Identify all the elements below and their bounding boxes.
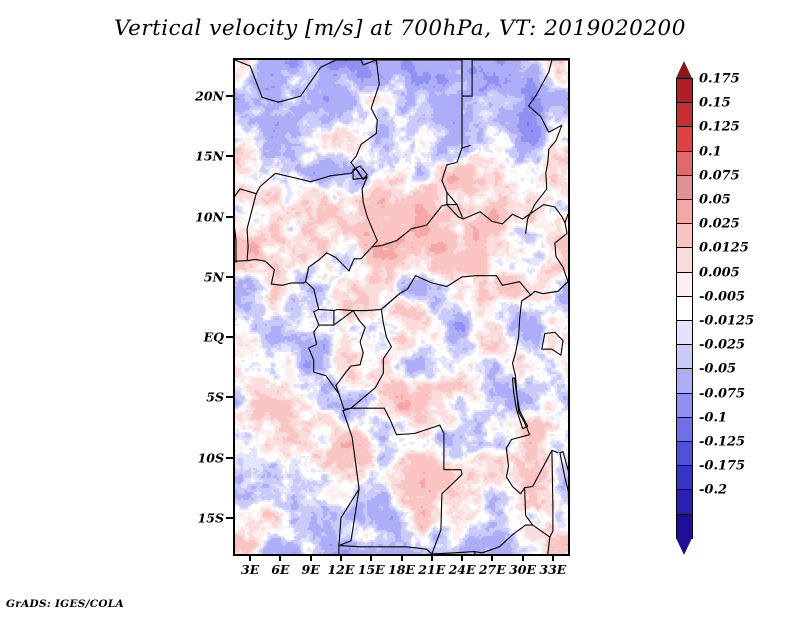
latitude-tick-label: EQ <box>204 330 224 345</box>
colorbar-tick-label: 0.05 <box>699 193 731 208</box>
colorbar-tick-label: -0.05 <box>699 362 736 377</box>
latitude-tick-label: 5N <box>204 269 224 284</box>
colorbar-tick-label: -0.125 <box>699 435 745 450</box>
colorbar-segment <box>676 514 693 539</box>
longitude-tick-label: 6E <box>271 562 289 577</box>
page-title: Vertical velocity [m/s] at 700hPa, VT: 2… <box>0 16 800 41</box>
map-plot-area[interactable] <box>233 58 570 556</box>
colorbar-segment <box>676 296 693 321</box>
credit-label: GrADS: IGES/COLA <box>6 598 124 610</box>
colorbar-min-arrow <box>676 538 692 555</box>
colorbar-segment <box>676 441 693 466</box>
colorbar-segment <box>676 368 693 393</box>
colorbar-tick-label: 0.175 <box>699 72 740 87</box>
colorbar-segment <box>676 126 693 151</box>
colorbar-tick-label: 0.125 <box>699 120 740 135</box>
longitude-tick-label: 15E <box>358 562 385 577</box>
colorbar-segment <box>676 102 693 127</box>
colorbar-max-arrow <box>676 61 692 78</box>
colorbar-tick-label: 0.005 <box>699 265 740 280</box>
colorbar-segment <box>676 247 693 272</box>
longitude-tick-label: 9E <box>302 562 320 577</box>
latitude-tick-label: 20N <box>195 89 224 104</box>
colorbar-segment <box>676 175 693 200</box>
latitude-tick-label: 10S <box>198 450 224 465</box>
colorbar-segment <box>676 151 693 176</box>
colorbar-segment <box>676 393 693 418</box>
latitude-tick-label: 5S <box>206 390 224 405</box>
latitude-tick-label: 15N <box>195 149 224 164</box>
colorbar-segment <box>676 78 693 103</box>
longitude-tick-label: 30E <box>509 562 536 577</box>
colorbar-tick-label: -0.175 <box>699 459 745 474</box>
longitude-tick-label: 12E <box>327 562 354 577</box>
longitude-tick-label: 3E <box>241 562 259 577</box>
colorbar-segment <box>676 223 693 248</box>
colorbar-tick-label: 0.15 <box>699 96 731 111</box>
longitude-tick-label: 24E <box>449 562 476 577</box>
colorbar-tick-label: -0.075 <box>699 386 745 401</box>
colorbar-tick-label: -0.0125 <box>699 314 754 329</box>
longitude-tick-label: 21E <box>418 562 445 577</box>
colorbar-tick-label: 0.025 <box>699 217 740 232</box>
colorbar-tick-label: 0.1 <box>699 144 722 159</box>
longitude-tick-label: 18E <box>388 562 415 577</box>
colorbar-segment <box>676 344 693 369</box>
colorbar-segment <box>676 465 693 490</box>
colorbar-tick-label: 0.0125 <box>699 241 749 256</box>
colorbar-tick-label: 0.075 <box>699 168 740 183</box>
colorbar[interactable]: 0.1750.150.1250.10.0750.050.0250.01250.0… <box>676 60 796 560</box>
latitude-tick-label: 10N <box>195 209 224 224</box>
colorbar-segment <box>676 489 693 514</box>
longitude-tick-label: 27E <box>479 562 506 577</box>
latitude-tick-label: 15S <box>198 510 224 525</box>
colorbar-tick-label: -0.2 <box>699 483 727 498</box>
colorbar-tick-label: -0.1 <box>699 410 727 425</box>
colorbar-tick-label: -0.005 <box>699 289 745 304</box>
colorbar-segment <box>676 320 693 345</box>
colorbar-segment <box>676 417 693 442</box>
vertical-velocity-heatmap <box>235 60 568 554</box>
colorbar-tick-label: -0.025 <box>699 338 745 353</box>
longitude-tick-label: 33E <box>539 562 566 577</box>
colorbar-segment <box>676 272 693 297</box>
colorbar-segment <box>676 199 693 224</box>
